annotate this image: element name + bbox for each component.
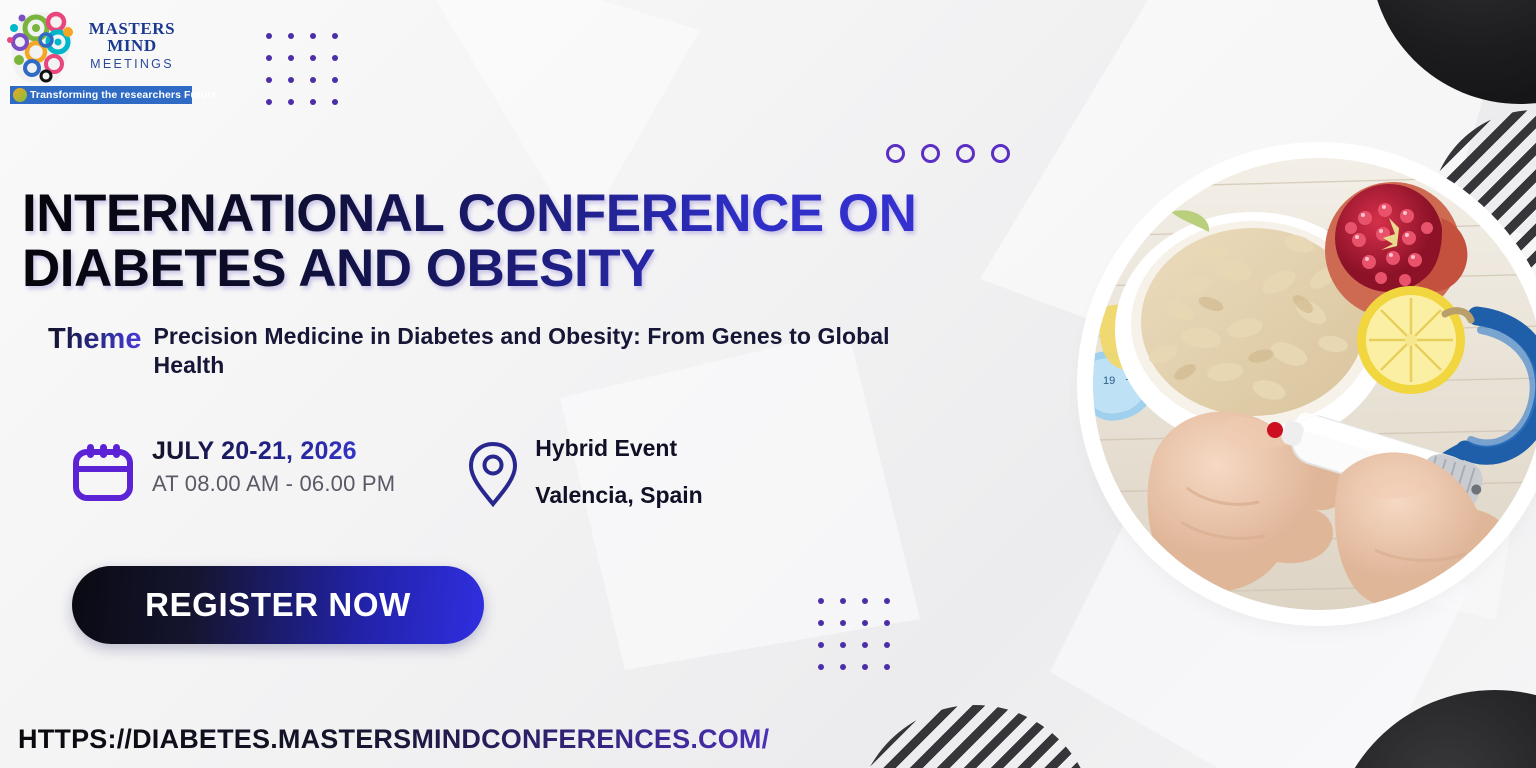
register-now-button[interactable]: REGISTER NOW <box>72 566 484 644</box>
event-time: AT 08.00 AM - 06.00 PM <box>152 470 395 499</box>
ring-icon <box>886 144 905 163</box>
ring-icon <box>991 144 1010 163</box>
dot-grid-bottom-center <box>818 598 890 670</box>
hero-image-circle: 191817 <box>1093 158 1536 610</box>
event-venue-block: Hybrid Event Valencia, Spain <box>467 436 702 515</box>
svg-text:19: 19 <box>1103 375 1115 387</box>
theme-text: Precision Medicine in Diabetes and Obesi… <box>153 322 908 381</box>
event-venue-text: Hybrid Event Valencia, Spain <box>535 436 702 509</box>
brand-wordmark: MASTERS MIND MEETINGS <box>68 20 196 71</box>
diabetes-glucose-test-photo: 191817 <box>1093 158 1536 610</box>
dark-circle-bottom-right <box>1330 690 1536 768</box>
brand-name: MASTERS MIND <box>68 20 196 54</box>
event-date: JULY 20-21, 2026 <box>152 437 357 465</box>
conference-banner: MASTERS MIND MEETINGS Transforming the r… <box>0 0 1536 768</box>
striped-circle-bottom <box>855 705 1095 768</box>
event-date-text: JULY 20-21, 2026 AT 08.00 AM - 06.00 PM <box>152 436 395 499</box>
tagline-badge-icon <box>13 88 27 102</box>
brand-tagline-bar: Transforming the researchers Future <box>10 86 192 104</box>
brand-tagline: Transforming the researchers Future <box>30 89 217 101</box>
event-date-block: JULY 20-21, 2026 AT 08.00 AM - 06.00 PM <box>70 436 395 511</box>
brand-subtitle: MEETINGS <box>68 58 196 71</box>
location-pin-icon <box>467 440 519 515</box>
theme-row: Theme Precision Medicine in Diabetes and… <box>48 322 908 381</box>
event-meta: JULY 20-21, 2026 AT 08.00 AM - 06.00 PM … <box>70 436 703 515</box>
ring-decoration-row <box>886 144 1010 163</box>
dot-grid-top-left <box>266 33 338 105</box>
conference-url[interactable]: HTTPS://DIABETES.MASTERSMINDCONFERENCES.… <box>18 724 769 755</box>
page-title: INTERNATIONAL CONFERENCE ON DIABETES AND… <box>22 186 1002 296</box>
event-mode: Hybrid Event <box>535 436 702 461</box>
ring-icon <box>921 144 940 163</box>
calendar-icon <box>70 440 136 511</box>
ring-icon <box>956 144 975 163</box>
dark-circle-top-right <box>1370 0 1536 104</box>
theme-label: Theme <box>48 322 141 357</box>
event-city: Valencia, Spain <box>535 483 702 508</box>
brand-logo[interactable]: MASTERS MIND MEETINGS Transforming the r… <box>6 8 196 104</box>
